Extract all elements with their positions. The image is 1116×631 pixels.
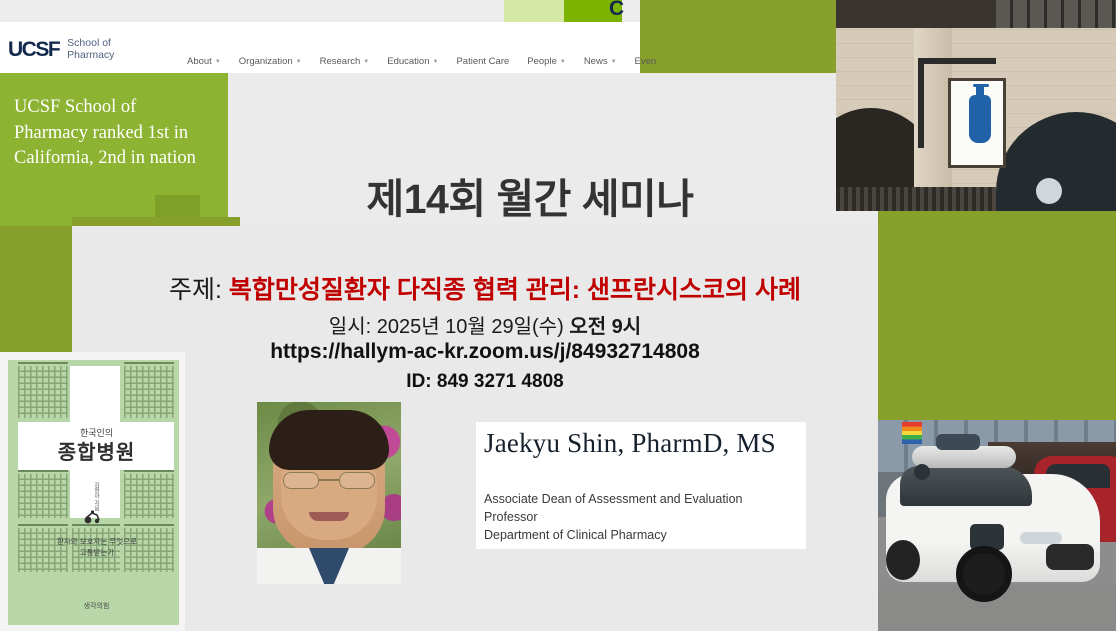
book-cover-image: 한국인의 종합병원 김현아 지음 환자와 보호자는 무엇으로 고통받는가 생각의…	[0, 352, 185, 631]
book-rule	[124, 470, 174, 472]
subject-value: 복합만성질환자 다직종 협력 관리: 샌프란시스코의 사례	[229, 276, 801, 304]
glasses-left-lens	[283, 472, 319, 489]
blue-bottle-lip	[973, 84, 989, 87]
nav-item-label: Research	[320, 56, 361, 67]
chevron-down-icon: ▼	[560, 59, 566, 65]
nav-item-research[interactable]: Research ▼	[311, 56, 379, 67]
nav-item-events[interactable]: Even	[626, 56, 666, 67]
site-navigation: About ▼ Organization ▼ Research ▼ Educat…	[178, 56, 665, 67]
speaker-info-card: Jaekyu Shin, PharmD, MS Associate Dean o…	[476, 422, 806, 549]
chevron-down-icon: ▼	[611, 59, 617, 65]
speaker-titles: Associate Dean of Assessment and Evaluat…	[484, 490, 742, 544]
slide-title: 제14회 월간 세미나	[240, 165, 820, 225]
wheelchair-figure-icon	[80, 510, 106, 524]
blue-bottle-sign	[948, 78, 1006, 168]
portrait-mouth	[309, 512, 349, 521]
ucsf-logo-subtitle-line2: Pharmacy	[67, 49, 114, 61]
car-headlight	[1020, 532, 1062, 544]
sign-bracket-arm	[918, 58, 996, 64]
book-rule	[18, 470, 68, 472]
banner-corner-chip	[155, 195, 200, 217]
ucsf-logo[interactable]: UCSF School of Pharmacy	[8, 38, 114, 61]
book-pattern-cell	[124, 474, 174, 518]
ucsf-logo-subtitle: School of Pharmacy	[67, 38, 114, 61]
glasses-right-lens	[339, 472, 375, 489]
book-rule	[18, 524, 68, 526]
speaker-title-line2: Professor	[484, 508, 742, 526]
book-rule	[72, 524, 120, 526]
ucsf-site-header: UCSF School of Pharmacy About ▼ Organiza…	[0, 22, 640, 73]
speaker-title-line3: Department of Clinical Pharmacy	[484, 526, 742, 544]
book-publisher: 생각의힘	[8, 601, 179, 611]
book-pattern-cell	[18, 366, 68, 418]
top-strip-light-green-segment	[504, 0, 564, 22]
chevron-down-icon: ▼	[296, 59, 302, 65]
nav-item-label: People	[527, 56, 557, 67]
autonomous-car-photo	[878, 420, 1116, 631]
car-grille	[1046, 544, 1094, 570]
nav-item-label: About	[187, 56, 212, 67]
chevron-down-icon: ▼	[215, 59, 221, 65]
subject-label: 주제:	[169, 276, 222, 304]
front-wheel	[956, 546, 1012, 602]
book-main-title: 종합병원	[8, 436, 179, 465]
book-rule	[124, 362, 174, 364]
book-rule	[124, 524, 174, 526]
nav-item-label: Organization	[239, 56, 293, 67]
nav-item-label: Education	[387, 56, 429, 67]
rainbow-flag	[902, 422, 922, 444]
banner-right-padding	[228, 73, 240, 217]
lidar-sensor-dome	[936, 434, 980, 450]
banner-underline-block	[0, 217, 72, 226]
slide-datetime-line: 일시: 2025년 10월 29일(수) 오전 9시	[90, 310, 880, 339]
speaker-name: Jaekyu Shin, PharmD, MS	[484, 428, 776, 459]
book-pattern-cell	[124, 366, 174, 418]
book-rule	[18, 362, 68, 364]
nav-item-about[interactable]: About ▼	[178, 56, 230, 67]
zoom-meeting-id: ID: 849 3271 4808	[90, 371, 880, 393]
speaker-title-line1: Associate Dean of Assessment and Evaluat…	[484, 490, 742, 508]
coffee-shop-photo	[836, 0, 1116, 211]
chevron-down-icon: ▼	[433, 59, 439, 65]
nav-item-organization[interactable]: Organization ▼	[230, 56, 311, 67]
nav-item-news[interactable]: News ▼	[575, 56, 626, 67]
zoom-meeting-url[interactable]: https://hallym-ac-kr.zoom.us/j/849327148…	[90, 340, 880, 364]
round-shop-sign	[1036, 178, 1062, 204]
side-sensor	[914, 464, 930, 480]
rear-wheel	[886, 540, 920, 580]
sign-bracket-post	[918, 58, 924, 148]
nav-item-education[interactable]: Education ▼	[378, 56, 447, 67]
top-strip-letter: C	[609, 0, 624, 21]
portrait-hair	[269, 410, 389, 470]
chevron-down-icon: ▼	[363, 59, 369, 65]
portrait-glasses	[283, 472, 375, 489]
book-pattern-cell	[18, 474, 68, 518]
ucsf-logo-subtitle-line1: School of	[67, 37, 111, 49]
slide-subject-line: 주제: 복합만성질환자 다직종 협력 관리: 샌프란시스코의 사례	[90, 270, 880, 306]
datetime-label: 일시:	[329, 316, 371, 338]
nav-item-label: Patient Care	[456, 56, 509, 67]
glasses-bridge	[319, 479, 339, 481]
speaker-portrait-photo	[257, 402, 401, 584]
datetime-date: 2025년 10월 29일(수)	[377, 316, 564, 338]
nav-item-label: Even	[635, 56, 657, 67]
blue-bottle-icon	[969, 95, 991, 143]
ucsf-wordmark: UCSF	[8, 39, 59, 60]
book-author: 김현아 지음	[92, 482, 100, 511]
ucsf-rank-banner-text: UCSF School of Pharmacy ranked 1st in Ca…	[14, 95, 210, 172]
nav-item-people[interactable]: People ▼	[518, 56, 575, 67]
blue-bottle-neck	[976, 86, 984, 98]
nav-item-patient-care[interactable]: Patient Care	[447, 56, 518, 67]
nav-item-label: News	[584, 56, 608, 67]
book-subtitle: 환자와 보호자는 무엇으로 고통받는가	[56, 536, 138, 558]
datetime-time: 오전 9시	[569, 316, 641, 338]
ucsf-rank-banner[interactable]: UCSF School of Pharmacy ranked 1st in Ca…	[0, 73, 228, 217]
street-railing	[836, 187, 996, 211]
book-cover-inner: 한국인의 종합병원 김현아 지음 환자와 보호자는 무엇으로 고통받는가 생각의…	[8, 360, 179, 625]
